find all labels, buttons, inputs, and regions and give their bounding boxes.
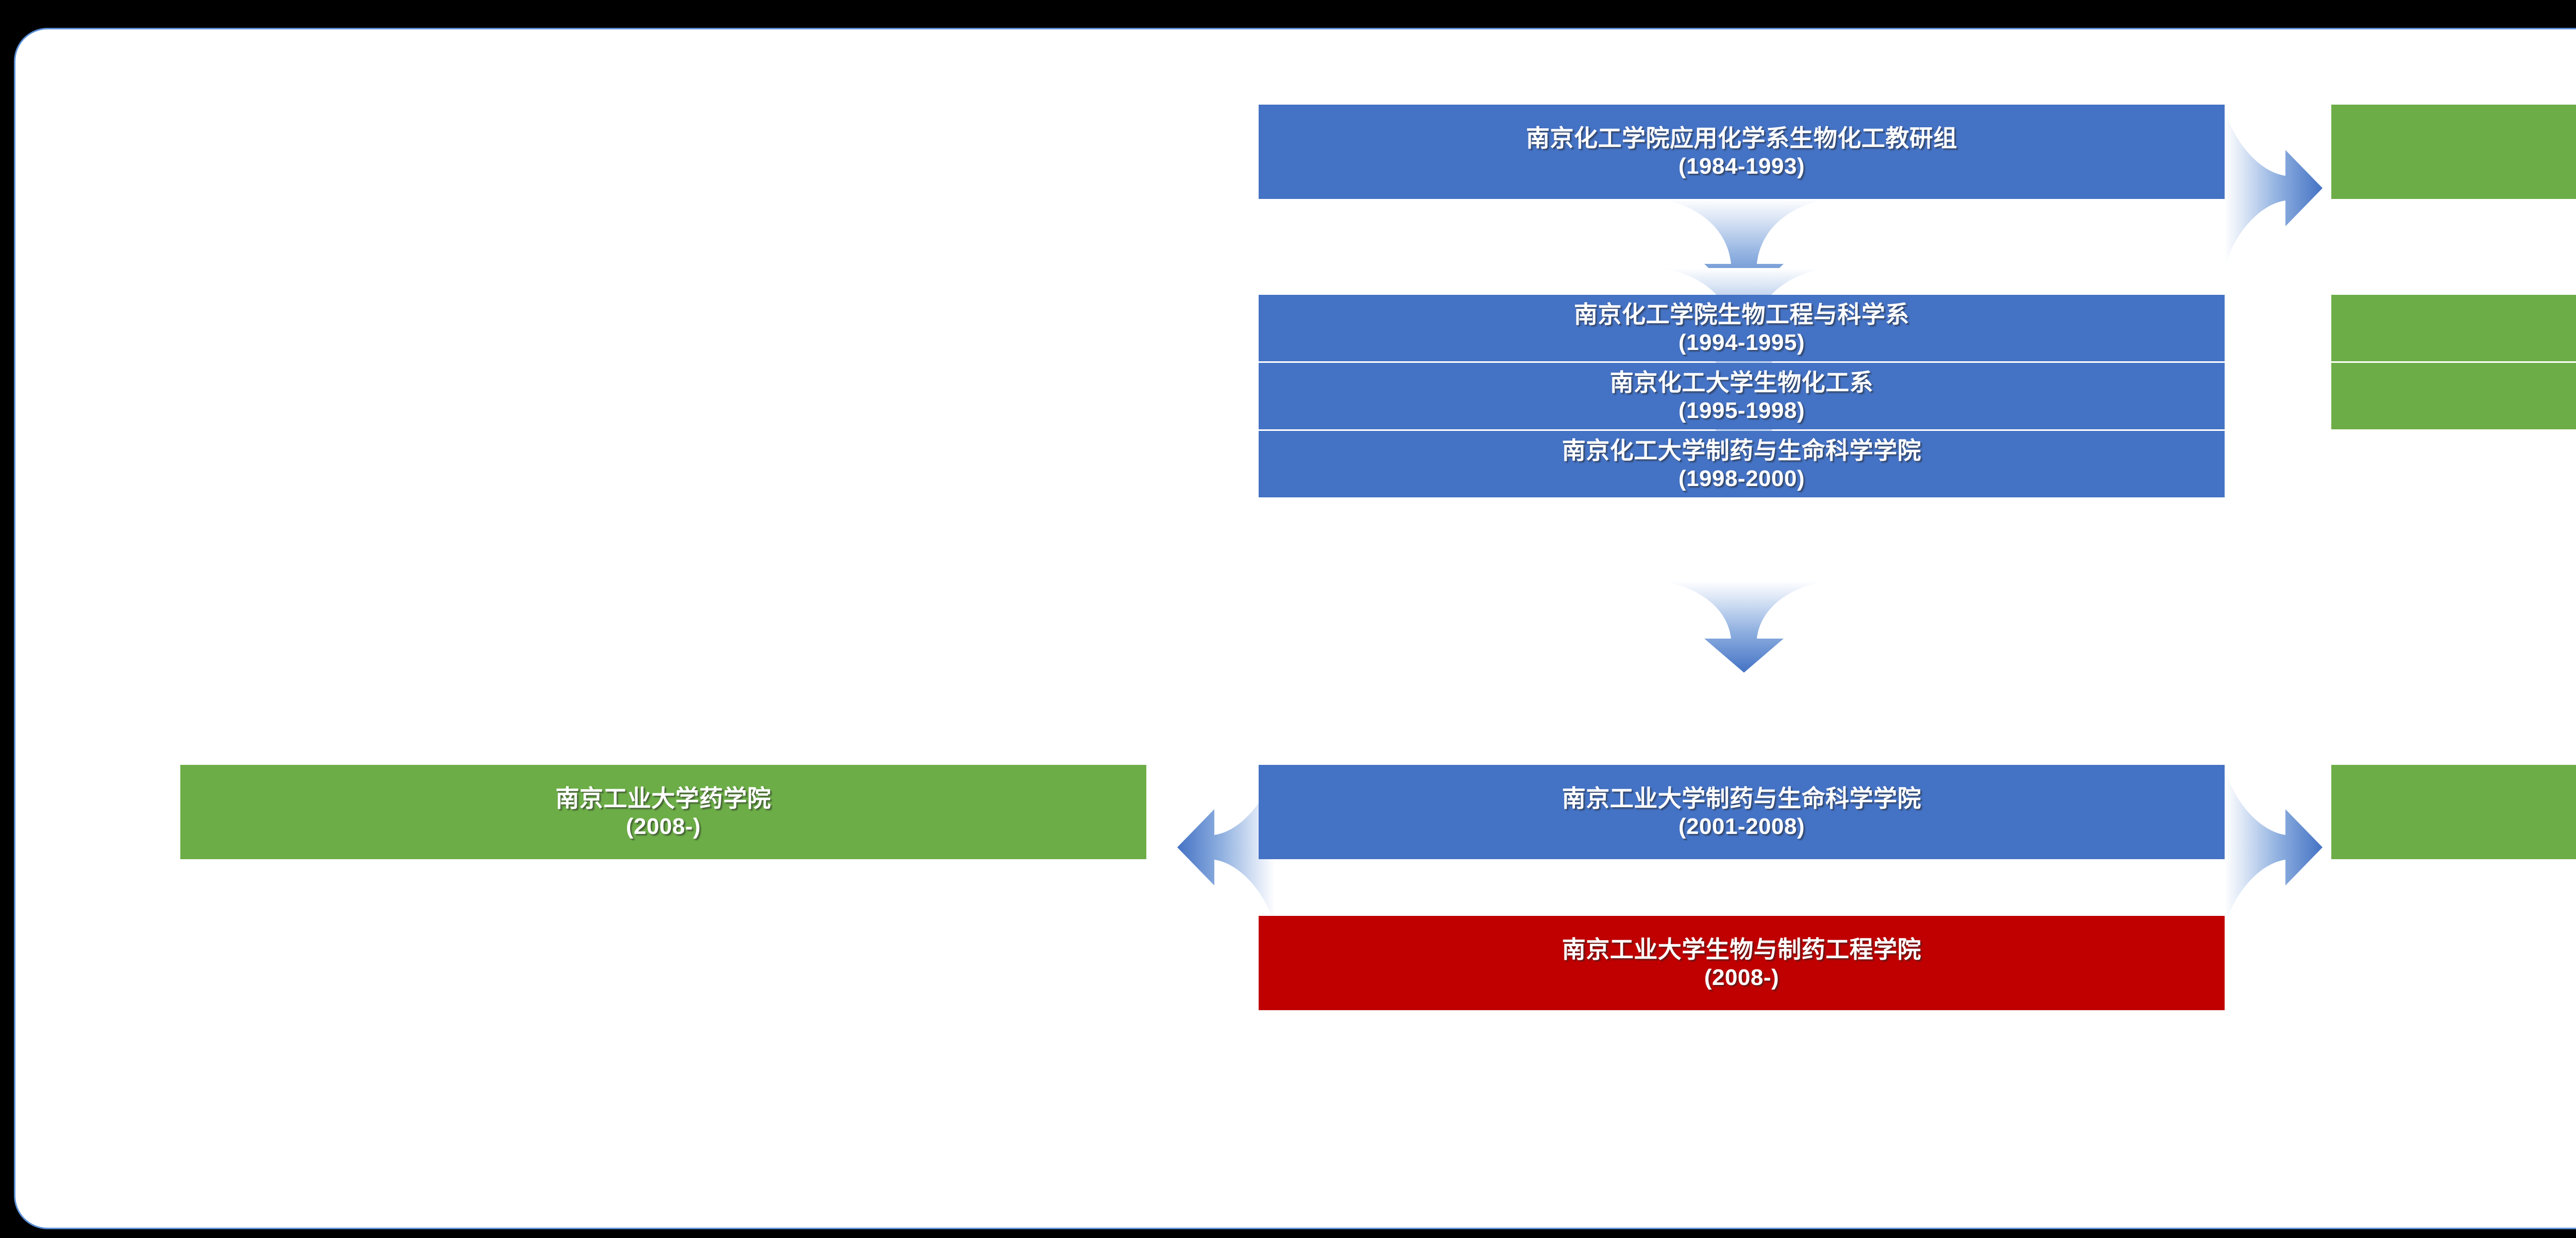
node-right-3[interactable]: 国家生化工程技术研究中心 (1996-) <box>2331 363 2576 429</box>
node-main-3[interactable]: 南京化工大学生物化工系 (1995-1998) <box>1259 363 2225 429</box>
node-main-6-name: 南京工业大学生物与制药工程学院 <box>1562 935 1922 964</box>
node-main-6-period: (2008-) <box>1704 964 1779 992</box>
node-main-4-name: 南京化工大学制药与生命科学学院 <box>1562 436 1922 465</box>
node-main-5-period: (2001-2008) <box>1679 813 1805 841</box>
node-main-4[interactable]: 南京化工大学制药与生命科学学院 (1998-2000) <box>1259 431 2225 497</box>
node-main-1-period: (1984-1993) <box>1679 153 1805 180</box>
node-main-2-name: 南京化工学院生物工程与科学系 <box>1574 300 1909 329</box>
node-main-1-name: 南京化工学院应用化学系生物化工教研组 <box>1526 124 1957 153</box>
node-main-5[interactable]: 南京工业大学制药与生命科学学院 (2001-2008) <box>1259 765 2225 859</box>
arrow-main-5-to-left-1 <box>1146 765 1275 930</box>
node-right-4[interactable]: 南京工业大学食品与轻工学院 (2008-) <box>2331 765 2576 859</box>
node-main-3-name: 南京化工大学生物化工系 <box>1610 368 1874 397</box>
node-main-6[interactable]: 南京工业大学生物与制药工程学院 (2008-) <box>1259 916 2225 1010</box>
node-left-1-name: 南京工业大学药学院 <box>555 784 771 813</box>
node-main-3-period: (1995-1998) <box>1679 397 1805 425</box>
node-main-5-name: 南京工业大学制药与生命科学学院 <box>1562 784 1922 813</box>
arrow-main-1-to-2 <box>1659 199 1829 302</box>
node-left-1-period: (2008-) <box>626 813 701 841</box>
node-left-1[interactable]: 南京工业大学药学院 (2008-) <box>180 765 1146 859</box>
node-right-1[interactable]: 化工部工业生物技术研究中心 (1990-1992) <box>2331 105 2576 199</box>
node-main-4-period: (1998-2000) <box>1679 465 1805 493</box>
node-main-2-period: (1994-1995) <box>1679 329 1805 357</box>
diagram-canvas: 南京化工学院应用化学系生物化工教研组 (1984-1993) 南京化工学院生物工… <box>15 29 2576 1228</box>
node-right-2[interactable]: 科技部生化工程技术研究中心（筹） (1993-1995) <box>2331 295 2576 361</box>
node-main-2[interactable]: 南京化工学院生物工程与科学系 (1994-1995) <box>1259 295 2225 361</box>
node-main-1[interactable]: 南京化工学院应用化学系生物化工教研组 (1984-1993) <box>1259 105 2225 199</box>
arrow-main-5-to-6 <box>1659 581 1829 673</box>
